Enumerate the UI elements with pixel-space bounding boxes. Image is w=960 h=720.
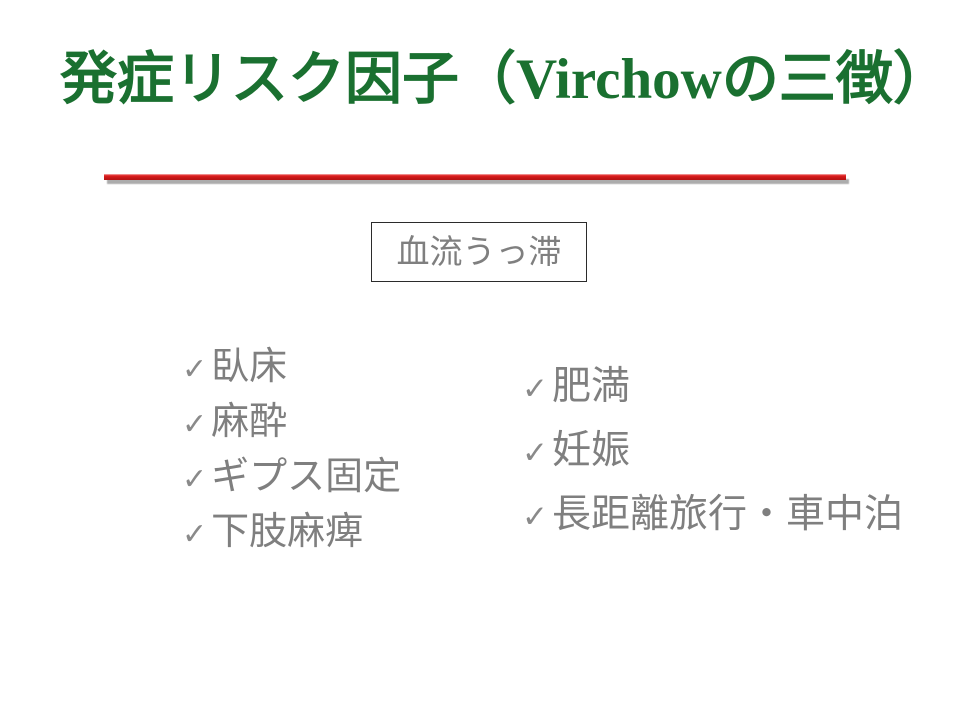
title-divider xyxy=(104,174,846,186)
list-item: ✓ 麻酔 xyxy=(182,396,401,451)
divider-line xyxy=(104,174,846,180)
list-item: ✓ 臥床 xyxy=(182,341,401,396)
check-icon: ✓ xyxy=(522,423,548,484)
list-item: ✓ ギプス固定 xyxy=(182,451,401,506)
check-icon: ✓ xyxy=(182,508,207,561)
risk-list-left: ✓ 臥床 ✓ 麻酔 ✓ ギプス固定 ✓ 下肢麻痺 xyxy=(182,341,401,561)
list-item-label: 肥満 xyxy=(552,356,630,417)
section-box: 血流うっ滞 xyxy=(371,222,587,282)
check-icon: ✓ xyxy=(522,359,548,420)
check-icon: ✓ xyxy=(182,398,207,451)
list-item-label: 妊娠 xyxy=(552,420,630,481)
list-item-label: ギプス固定 xyxy=(211,451,401,504)
list-item-label: 下肢麻痺 xyxy=(211,506,363,559)
list-item-label: 長距離旅行・車中泊 xyxy=(552,484,903,545)
section-box-label: 血流うっ滞 xyxy=(397,233,562,271)
page-title: 発症リスク因子（Virchowの三徴） xyxy=(60,46,900,114)
check-icon: ✓ xyxy=(182,453,207,506)
slide-canvas: 発症リスク因子（Virchowの三徴） 血流うっ滞 ✓ 臥床 ✓ 麻酔 ✓ ギプ… xyxy=(0,0,960,720)
list-item: ✓ 肥満 xyxy=(522,356,903,420)
risk-list-right: ✓ 肥満 ✓ 妊娠 ✓ 長距離旅行・車中泊 xyxy=(522,356,903,548)
list-item: ✓ 妊娠 xyxy=(522,420,903,484)
list-item-label: 麻酔 xyxy=(211,396,287,449)
list-item: ✓ 長距離旅行・車中泊 xyxy=(522,484,903,548)
check-icon: ✓ xyxy=(522,487,548,548)
list-item-label: 臥床 xyxy=(211,341,287,394)
list-item: ✓ 下肢麻痺 xyxy=(182,506,401,561)
check-icon: ✓ xyxy=(182,343,207,396)
